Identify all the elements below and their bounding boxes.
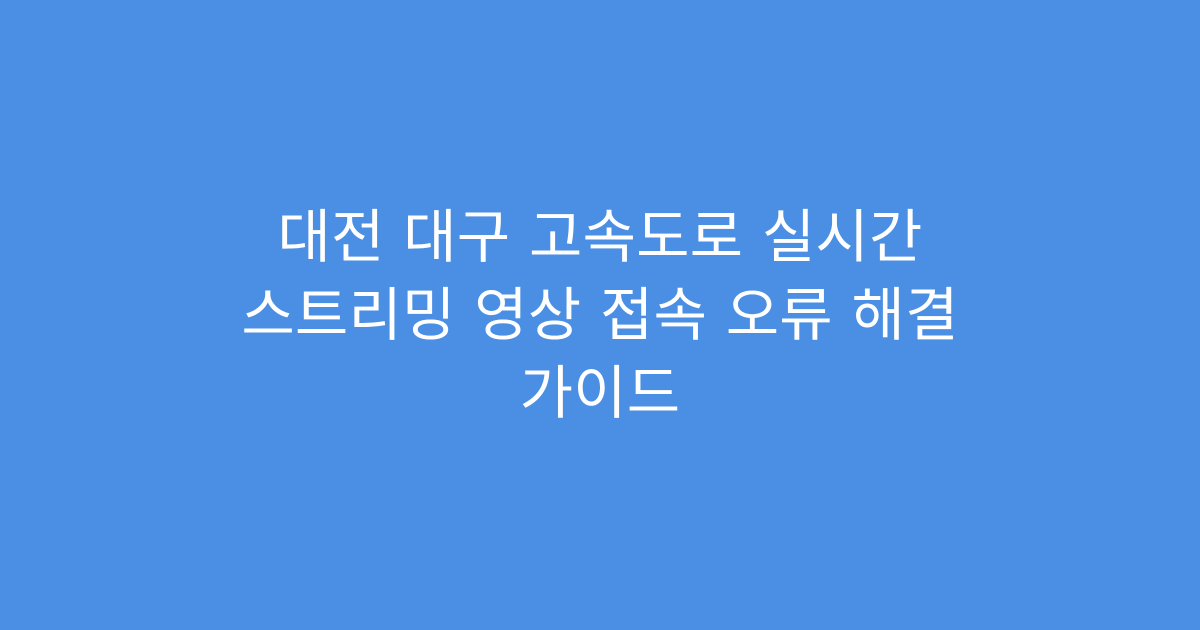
- title-line-2: 스트리밍 영상 접속 오류 해결: [150, 276, 1050, 354]
- title-line-1: 대전 대구 고속도로 실시간: [150, 198, 1050, 276]
- page-title: 대전 대구 고속도로 실시간 스트리밍 영상 접속 오류 해결 가이드: [130, 198, 1070, 432]
- title-line-3: 가이드: [150, 354, 1050, 432]
- og-image-card: 대전 대구 고속도로 실시간 스트리밍 영상 접속 오류 해결 가이드: [0, 0, 1200, 630]
